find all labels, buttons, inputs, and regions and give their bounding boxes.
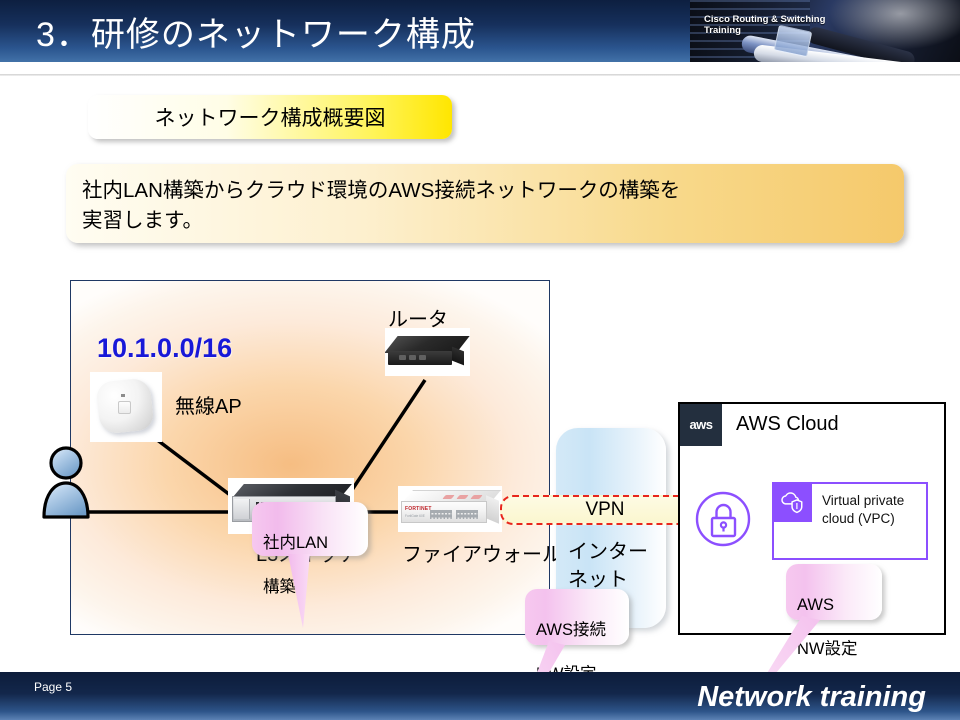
internet-label: インター ネット <box>562 538 662 594</box>
router-label: ルータ <box>388 303 448 332</box>
firewall-port-group <box>430 510 452 519</box>
section-heading-label: ネットワーク構成概要図 <box>155 102 386 132</box>
callout-line-1: 社内LAN <box>263 532 357 554</box>
page-number: Page 5 <box>34 680 72 694</box>
slide-root: 3．研修のネットワーク構成 Cisco Routing & Switching … <box>0 0 960 720</box>
firewall-port-group <box>456 510 478 519</box>
callout-bubble: 社内LAN 構築 <box>252 502 368 556</box>
callout-line-1: AWS <box>797 594 871 616</box>
page-title: 3．研修のネットワーク構成 <box>36 7 476 56</box>
title-divider <box>0 74 960 76</box>
vpn-gateway-lock-icon <box>694 490 752 548</box>
network-diagram: 10.1.0.0/16 無線AP <box>0 250 960 670</box>
vpc-cloud-shield-icon <box>774 484 812 522</box>
vpc-label: Virtual private cloud (VPC) <box>822 492 926 528</box>
vpn-label: VPN <box>585 499 624 521</box>
photo-caption: Cisco Routing & Switching Training <box>704 14 844 36</box>
description-line-2: 実習します。 <box>82 206 888 236</box>
section-heading-pill: ネットワーク構成概要図 <box>88 95 452 139</box>
footer-bar: Page 5 Network training <box>0 672 960 720</box>
callout-line-1: AWS接続 <box>536 619 618 641</box>
switch-bezel <box>234 499 250 519</box>
wireless-ap-icon <box>90 372 162 442</box>
callout-aws-connect-nw: AWS接続 NW設定 <box>525 589 629 645</box>
title-bar: 3．研修のネットワーク構成 Cisco Routing & Switching … <box>0 0 960 62</box>
vpc-glyph <box>780 490 806 516</box>
firewall-model-mark: FortiGate 60E <box>405 514 425 518</box>
aws-logo-text: aws <box>689 419 712 431</box>
callout-aws-nw: AWS NW設定 <box>786 564 882 620</box>
router-icon <box>385 328 470 376</box>
user-person-icon <box>38 445 94 519</box>
description-box: 社内LAN構築からクラウド環境のAWS接続ネットワークの構築を 実習します。 <box>66 164 904 243</box>
callout-lan-build: 社内LAN 構築 <box>252 502 368 556</box>
vpc-label-line-1: Virtual private <box>822 492 926 510</box>
callout-bubble: AWS接続 NW設定 <box>525 589 629 645</box>
network-cables-photo: Cisco Routing & Switching Training <box>690 0 960 62</box>
aws-logo-icon: aws <box>680 404 722 446</box>
router-port <box>399 355 406 360</box>
callout-tail <box>284 552 334 630</box>
firewall-side <box>486 495 499 524</box>
firewall-icon: FORTINET FortiGate 60E <box>398 486 502 532</box>
footer-brand: Network training <box>697 681 926 714</box>
firewall-label: ファイアウォール <box>402 538 562 567</box>
internet-label-line-1: インター <box>568 538 662 566</box>
router-port <box>419 355 426 360</box>
router-side <box>452 347 464 366</box>
description-line-1: 社内LAN構築からクラウド環境のAWS接続ネットワークの構築を <box>82 176 888 206</box>
ap-panel <box>118 401 131 414</box>
ap-led <box>121 394 125 397</box>
aws-cloud-title: AWS Cloud <box>736 413 839 436</box>
vpc-label-line-2: cloud (VPC) <box>822 510 926 528</box>
vpc-box: Virtual private cloud (VPC) <box>772 482 928 560</box>
callout-bubble: AWS NW設定 <box>786 564 882 620</box>
wireless-ap-label: 無線AP <box>175 390 242 419</box>
router-port <box>409 355 416 360</box>
firewall-brand-mark: FORTINET <box>405 506 432 512</box>
